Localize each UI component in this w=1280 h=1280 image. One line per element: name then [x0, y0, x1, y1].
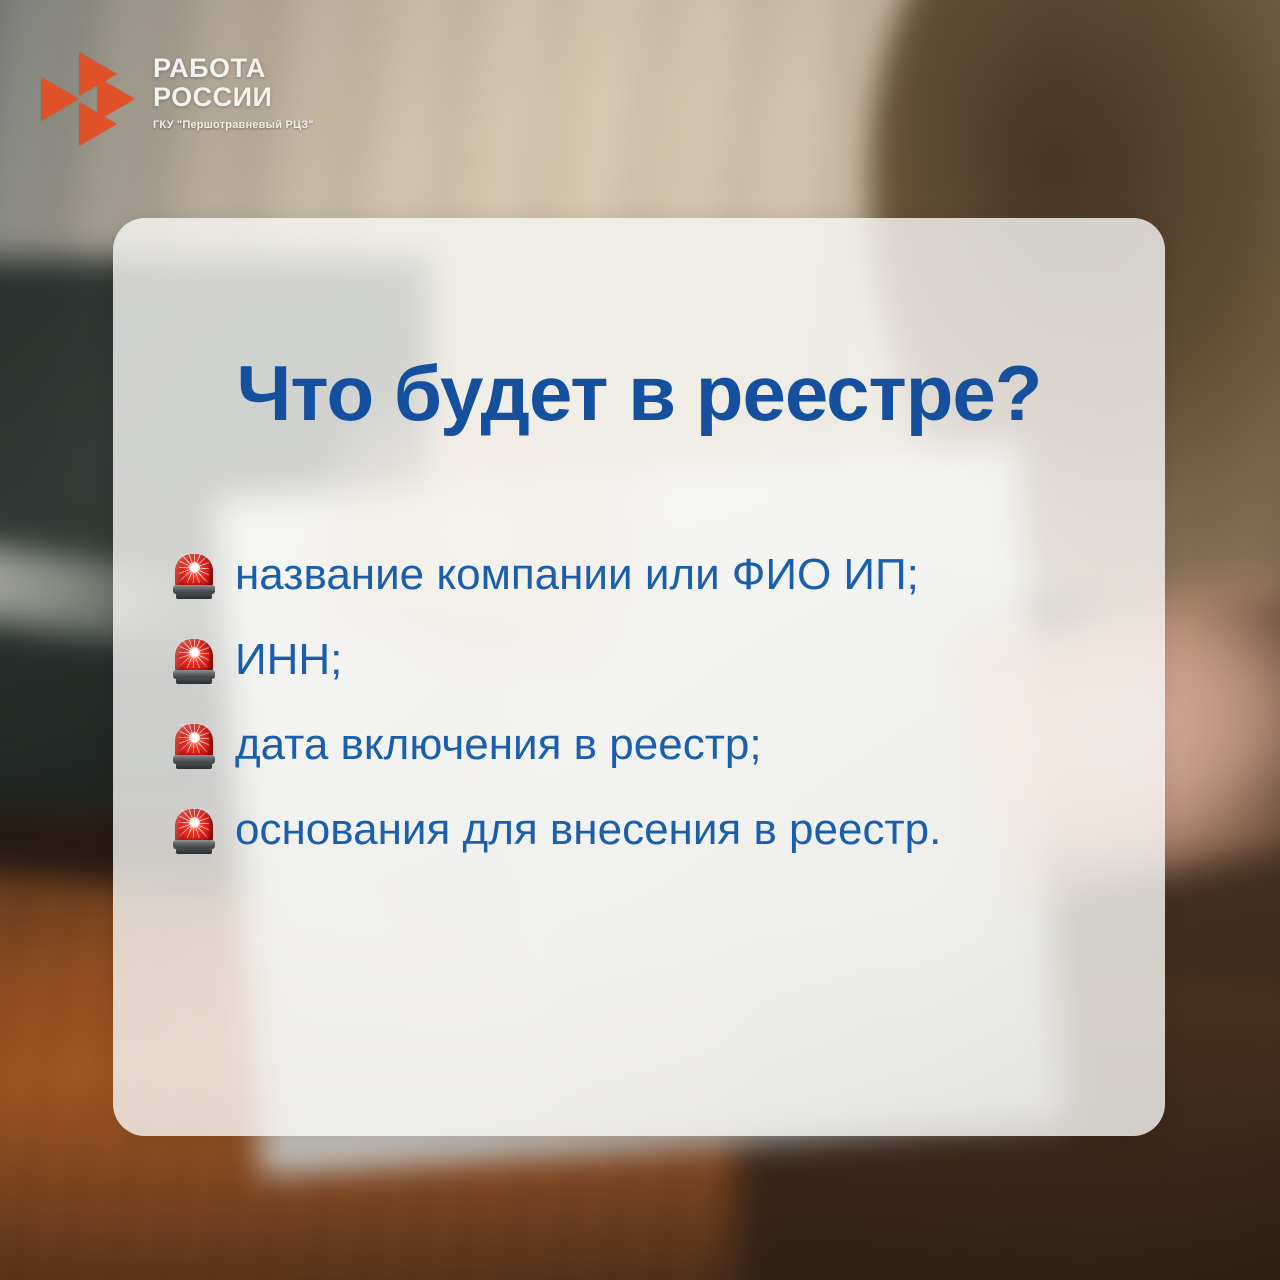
four-triangles-icon [55, 52, 137, 140]
list-item-label: ИНН; [235, 637, 342, 683]
list-item: дата включения в реестр; [173, 703, 1135, 788]
siren-core [189, 817, 200, 828]
list-item-label: основания для внесения в реестр. [235, 807, 941, 853]
siren-foot [176, 678, 212, 684]
triangle-left-icon [41, 77, 79, 121]
siren-foot [176, 593, 212, 599]
police-siren-icon [173, 553, 215, 599]
siren-core [189, 562, 200, 573]
siren-core [189, 732, 200, 743]
brand-name-line1: РАБОТА [153, 54, 314, 83]
brand-name-line2: РОССИИ [153, 83, 314, 112]
siren-foot [176, 763, 212, 769]
police-siren-icon [173, 638, 215, 684]
registry-contents-list: название компании или ФИО ИП; ИНН; [173, 533, 1135, 873]
triangle-bottom-icon [79, 102, 117, 146]
siren-core [189, 647, 200, 658]
list-item-label: дата включения в реестр; [235, 722, 762, 768]
page-title: Что будет в реестре? [113, 354, 1165, 432]
police-siren-icon [173, 808, 215, 854]
police-siren-icon [173, 723, 215, 769]
list-item-label: название компании или ФИО ИП; [235, 552, 919, 598]
brand-logo: РАБОТА РОССИИ ГКУ "Першотравневый РЦЗ" [55, 52, 314, 140]
list-item: название компании или ФИО ИП; [173, 533, 1135, 618]
siren-foot [176, 848, 212, 854]
brand-logo-text: РАБОТА РОССИИ ГКУ "Першотравневый РЦЗ" [153, 52, 314, 131]
list-item: основания для внесения в реестр. [173, 788, 1135, 873]
brand-subtitle: ГКУ "Першотравневый РЦЗ" [153, 119, 314, 131]
list-item: ИНН; [173, 618, 1135, 703]
poster-canvas: РАБОТА РОССИИ ГКУ "Першотравневый РЦЗ" Ч… [0, 0, 1280, 1280]
content-card: Что будет в реестре? название компании и… [113, 218, 1165, 1136]
